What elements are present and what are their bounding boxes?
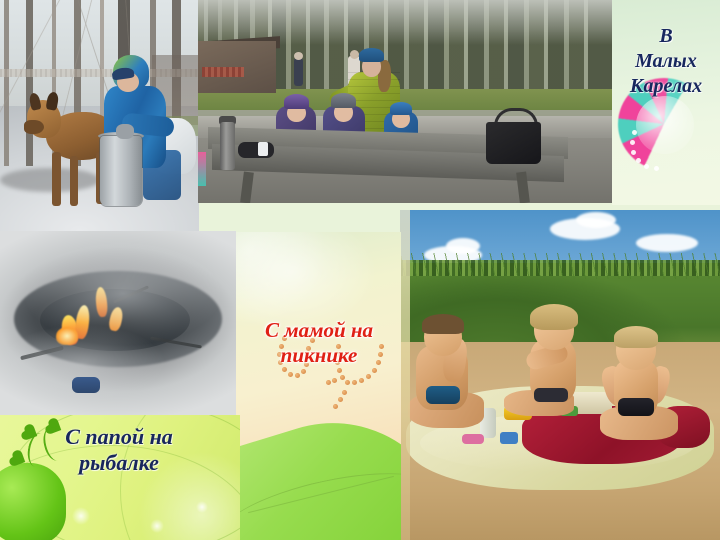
caption-text-fishing: С папой на рыбалке xyxy=(14,424,224,477)
caption-line: Малых xyxy=(612,49,720,74)
boy-hair xyxy=(422,314,464,334)
caption-text-picnic: С мамой на пикнике xyxy=(236,318,402,368)
child-glove xyxy=(116,124,134,139)
child-three-hat xyxy=(390,102,412,115)
photo-edge-sliver xyxy=(198,152,206,186)
caption-line: В xyxy=(612,24,720,49)
blue-boot xyxy=(72,377,100,393)
girl-swim-bottoms xyxy=(534,388,568,402)
dog-leg xyxy=(52,152,61,206)
thermos xyxy=(220,122,235,170)
caption-line: Карелах xyxy=(612,74,720,99)
light-bokeh xyxy=(150,519,164,533)
girl-hair xyxy=(530,304,578,330)
mother-beanie xyxy=(359,48,384,62)
beach-toy xyxy=(500,432,518,444)
distant-person-head xyxy=(350,50,359,59)
toddler-hair xyxy=(614,326,658,348)
cloud xyxy=(576,212,616,228)
dune-grass xyxy=(400,253,720,279)
red-railing xyxy=(202,67,244,77)
photo-dog-winter[interactable] xyxy=(0,0,199,231)
slide-canvas: В Малых Карелах С мамой на пикнике С пап… xyxy=(0,0,720,540)
caption-text-karely: В Малых Карелах xyxy=(612,24,720,99)
smoke xyxy=(0,231,236,415)
dog-leg xyxy=(70,156,78,206)
caption-panel-picnic xyxy=(236,232,401,540)
toddler-swim-trunks xyxy=(618,398,654,416)
distant-person xyxy=(294,58,303,86)
photo-campfire[interactable] xyxy=(0,231,236,415)
distant-person-head xyxy=(294,52,303,60)
light-bokeh xyxy=(72,507,90,525)
photo-picnic-table[interactable] xyxy=(198,0,612,203)
black-handbag xyxy=(486,122,541,164)
photo-beach-kids[interactable] xyxy=(400,210,720,540)
photo-left-edge xyxy=(400,210,410,540)
boy-swim-trunks xyxy=(426,386,460,404)
paper-cup xyxy=(258,142,268,156)
caption-line: рыбалке xyxy=(14,450,224,476)
caption-line: С мамой на xyxy=(236,318,402,343)
cloud xyxy=(446,238,480,254)
metal-pot xyxy=(100,136,142,206)
child-two-hat xyxy=(331,93,356,108)
panel-glow xyxy=(236,232,376,332)
beach-toy xyxy=(462,434,484,444)
dog-snout xyxy=(24,120,44,134)
child-one-hat xyxy=(284,94,309,109)
caption-line: пикнике xyxy=(236,343,402,368)
cloud xyxy=(636,234,698,252)
dark-bag xyxy=(238,142,274,158)
caption-line: С папой на xyxy=(14,424,224,450)
snow-shadow xyxy=(0,168,100,192)
light-bokeh xyxy=(196,501,208,513)
